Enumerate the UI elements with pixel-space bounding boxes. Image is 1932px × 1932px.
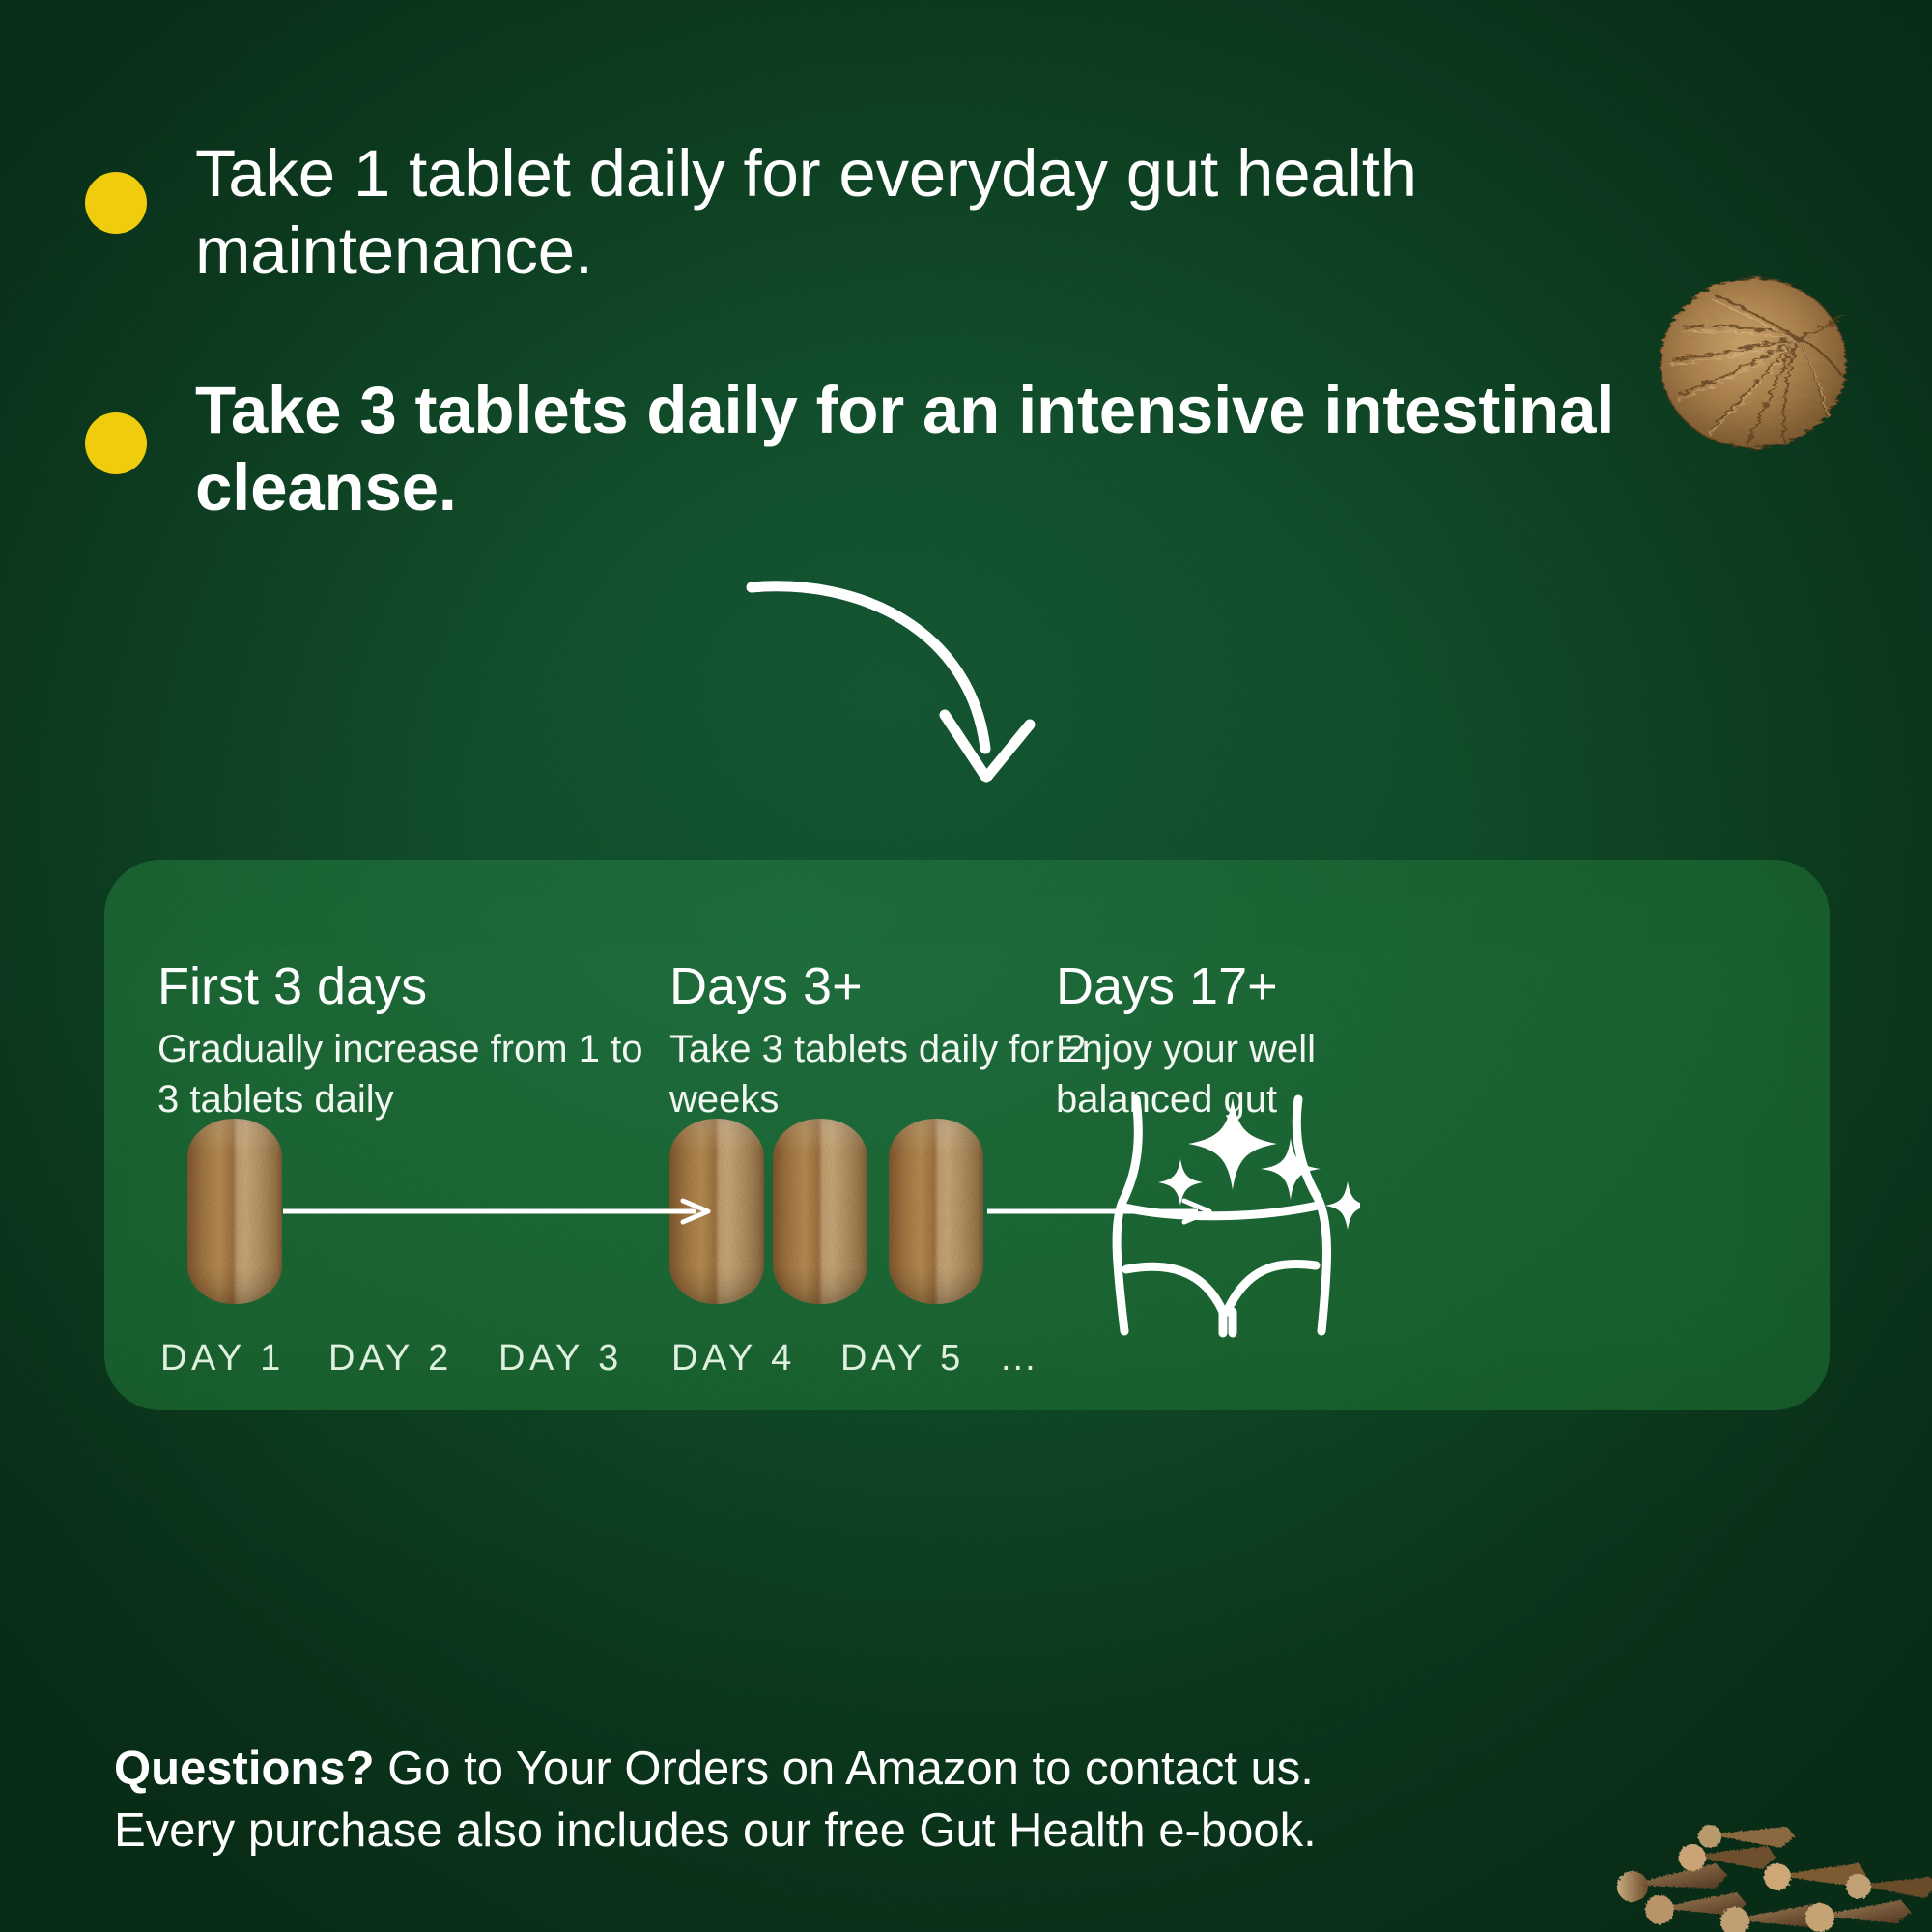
timeline-column-3: Days 17+ Enjoy your well balanced gut <box>1056 959 1471 1124</box>
column-3-title: Days 17+ <box>1056 959 1471 1014</box>
dosage-timeline-card: First 3 days Gradually increase from 1 t… <box>104 860 1830 1410</box>
day-label-row: DAY 1 DAY 2 DAY 3 DAY 4 DAY 5 ... <box>104 1338 1830 1396</box>
bullet-item-1-text: Take 1 tablet daily for everyday gut hea… <box>195 135 1592 290</box>
day-label: DAY 2 <box>328 1338 453 1379</box>
day-label: DAY 1 <box>160 1338 285 1379</box>
bullet-item-2: Take 3 tablets daily for an intensive in… <box>85 372 1650 526</box>
column-1-subtitle: Gradually increase from 1 to 3 tablets d… <box>157 1024 660 1124</box>
day-label-ellipsis: ... <box>1001 1338 1037 1379</box>
clove-spice-image <box>1615 1792 1932 1932</box>
footer-note: Questions? Go to Your Orders on Amazon t… <box>114 1739 1756 1861</box>
footer-line-1: Questions? Go to Your Orders on Amazon t… <box>114 1739 1756 1801</box>
day-label: DAY 3 <box>498 1338 623 1379</box>
column-3-subtitle: Enjoy your well balanced gut <box>1056 1024 1471 1124</box>
card-grain-texture <box>104 860 1830 1410</box>
timeline-column-1: First 3 days Gradually increase from 1 t… <box>157 959 660 1124</box>
bullet-item-2-text: Take 3 tablets daily for an intensive in… <box>195 372 1650 526</box>
poster-canvas: Take 1 tablet daily for everyday gut hea… <box>0 0 1932 1932</box>
curved-down-arrow-icon <box>744 570 1072 860</box>
bullet-item-1: Take 1 tablet daily for everyday gut hea… <box>85 135 1592 290</box>
yellow-dot-icon <box>85 412 147 474</box>
day-label: DAY 5 <box>840 1338 965 1379</box>
column-1-title: First 3 days <box>157 959 660 1014</box>
column-2-title: Days 3+ <box>669 959 1094 1014</box>
day-label: DAY 4 <box>671 1338 796 1379</box>
timeline-column-2: Days 3+ Take 3 tablets daily for 2 weeks <box>669 959 1094 1124</box>
yellow-dot-icon <box>85 172 147 234</box>
walnut-shell-image <box>1654 270 1857 454</box>
footer-line-1-rest: Go to Your Orders on Amazon to contact u… <box>375 1743 1314 1795</box>
footer-line-2: Every purchase also includes our free Gu… <box>114 1801 1756 1862</box>
column-2-subtitle: Take 3 tablets daily for 2 weeks <box>669 1024 1094 1124</box>
footer-questions-label: Questions? <box>114 1743 375 1795</box>
